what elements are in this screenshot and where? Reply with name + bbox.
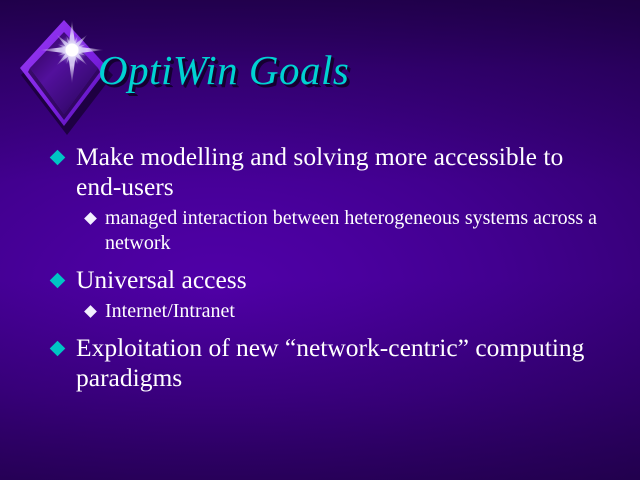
spacer [52,324,612,331]
diamond-bullet-icon [84,212,97,225]
diamond-bullet-icon [50,150,66,166]
list-item: Internet/Intranet [86,299,612,324]
bullet-text: Universal access [76,265,247,295]
diamond-bullet-icon [50,273,66,289]
diamond-bullet-icon [50,341,66,357]
diamond-bullet-icon [84,305,97,318]
list-item: Exploitation of new “network-centric” co… [52,333,612,393]
bullet-text: Exploitation of new “network-centric” co… [76,333,612,393]
bullet-text: Internet/Intranet [105,299,235,324]
presentation-slide: OptiWin Goals Make modelling and solving… [0,0,640,480]
bullet-text: managed interaction between heterogeneou… [105,206,612,256]
list-item: Universal access [52,265,612,295]
spacer [52,256,612,263]
bullet-list: Make modelling and solving more accessib… [52,140,612,393]
slide-title: OptiWin Goals [98,46,349,94]
bullet-text: Make modelling and solving more accessib… [76,142,612,202]
list-item: Make modelling and solving more accessib… [52,142,612,202]
list-item: managed interaction between heterogeneou… [86,206,612,256]
